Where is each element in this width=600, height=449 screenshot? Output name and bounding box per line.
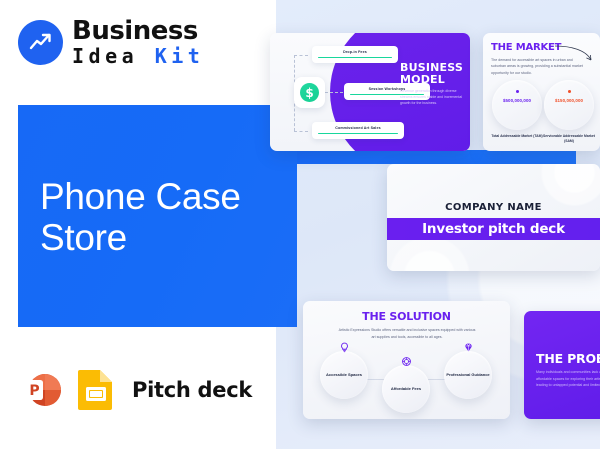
stat-dot [568, 90, 571, 93]
format-label: Pitch deck [132, 378, 252, 402]
solution-item-1[interactable]: Affordable Fees [382, 365, 430, 413]
dollar-coin-icon: $ [294, 77, 325, 108]
poster-canvas: Business Idea Kit Phone Case Store P [0, 0, 600, 449]
market-stat-0: $500,000,000 [492, 80, 542, 130]
investor-subtitle: Investor pitch deck [422, 221, 565, 237]
market-body: The demand for accessible art spaces in … [491, 57, 586, 76]
brand-kit-word: Kit [155, 44, 205, 68]
dollar-symbol: $ [300, 83, 319, 102]
problem-title: THE PROBLEM [536, 351, 600, 366]
market-stat-label-0: Total Addressable Market (TAM) [490, 134, 544, 139]
brand-idea-word: Idea [72, 44, 155, 68]
business-model-node-2[interactable]: Commissioned Art Sales [312, 122, 404, 139]
blue-accent-band [279, 150, 576, 164]
stat-value: $150,000,000 [555, 98, 583, 103]
node-label: Drop-in Fees [318, 50, 392, 54]
brand-logo: Business Idea Kit [18, 18, 204, 66]
stat-value: $500,000,000 [503, 98, 531, 103]
connector-bottom [294, 131, 308, 132]
connector-mid-right [325, 92, 343, 93]
market-stat-1: $150,000,000 [544, 80, 594, 130]
slide-the-market[interactable]: THE MARKET The demand for accessible art… [483, 33, 600, 151]
solution-item-2[interactable]: Professional Guidance [444, 351, 492, 399]
slide-the-solution[interactable]: THE SOLUTION Artistic Expressions Studio… [303, 301, 510, 419]
page-title: Phone Case Store [40, 176, 290, 259]
solution-title: THE SOLUTION [303, 310, 510, 323]
slide-investor-pitch-deck[interactable]: COMPANY NAME Investor pitch deck [387, 164, 600, 271]
node-label: Commissioned Art Sales [318, 126, 398, 130]
business-model-node-0[interactable]: Drop-in Fees [312, 46, 398, 63]
diamond-icon [462, 341, 475, 354]
market-stat-label-1: Serviceable Addressable Market (SAM) [542, 134, 596, 144]
google-slides-icon [76, 368, 116, 412]
brand-name-line2: Idea Kit [72, 46, 204, 66]
investor-subtitle-band: Investor pitch deck [387, 218, 600, 240]
problem-body: Many individuals and communities lack ac… [536, 369, 600, 389]
svg-text:P: P [29, 383, 39, 399]
connector-top [294, 55, 308, 56]
company-name: COMPANY NAME [387, 202, 600, 213]
solution-item-label: Affordable Fees [391, 386, 421, 392]
market-title: THE MARKET [491, 42, 561, 53]
brand-name-line1: Business [72, 18, 204, 44]
solution-body: Artistic Expressions Studio offers versa… [337, 327, 477, 340]
solution-item-label: Accessible Spaces [326, 372, 362, 378]
powerpoint-icon: P [20, 368, 64, 412]
business-model-title: BUSINESS MODEL [400, 62, 466, 87]
lightbulb-icon [338, 341, 351, 354]
coin-icon [400, 355, 413, 368]
business-model-body: Revenue generation through diverse strea… [400, 88, 468, 106]
solution-item-0[interactable]: Accessible Spaces [320, 351, 368, 399]
format-badges: P Pitch deck [20, 368, 252, 412]
slide-the-problem[interactable]: THE PROBLEM Many individuals and communi… [524, 311, 600, 419]
stat-dot [516, 90, 519, 93]
solution-item-label: Professional Guidance [446, 372, 489, 378]
trend-arrow-circle-icon [18, 20, 63, 65]
